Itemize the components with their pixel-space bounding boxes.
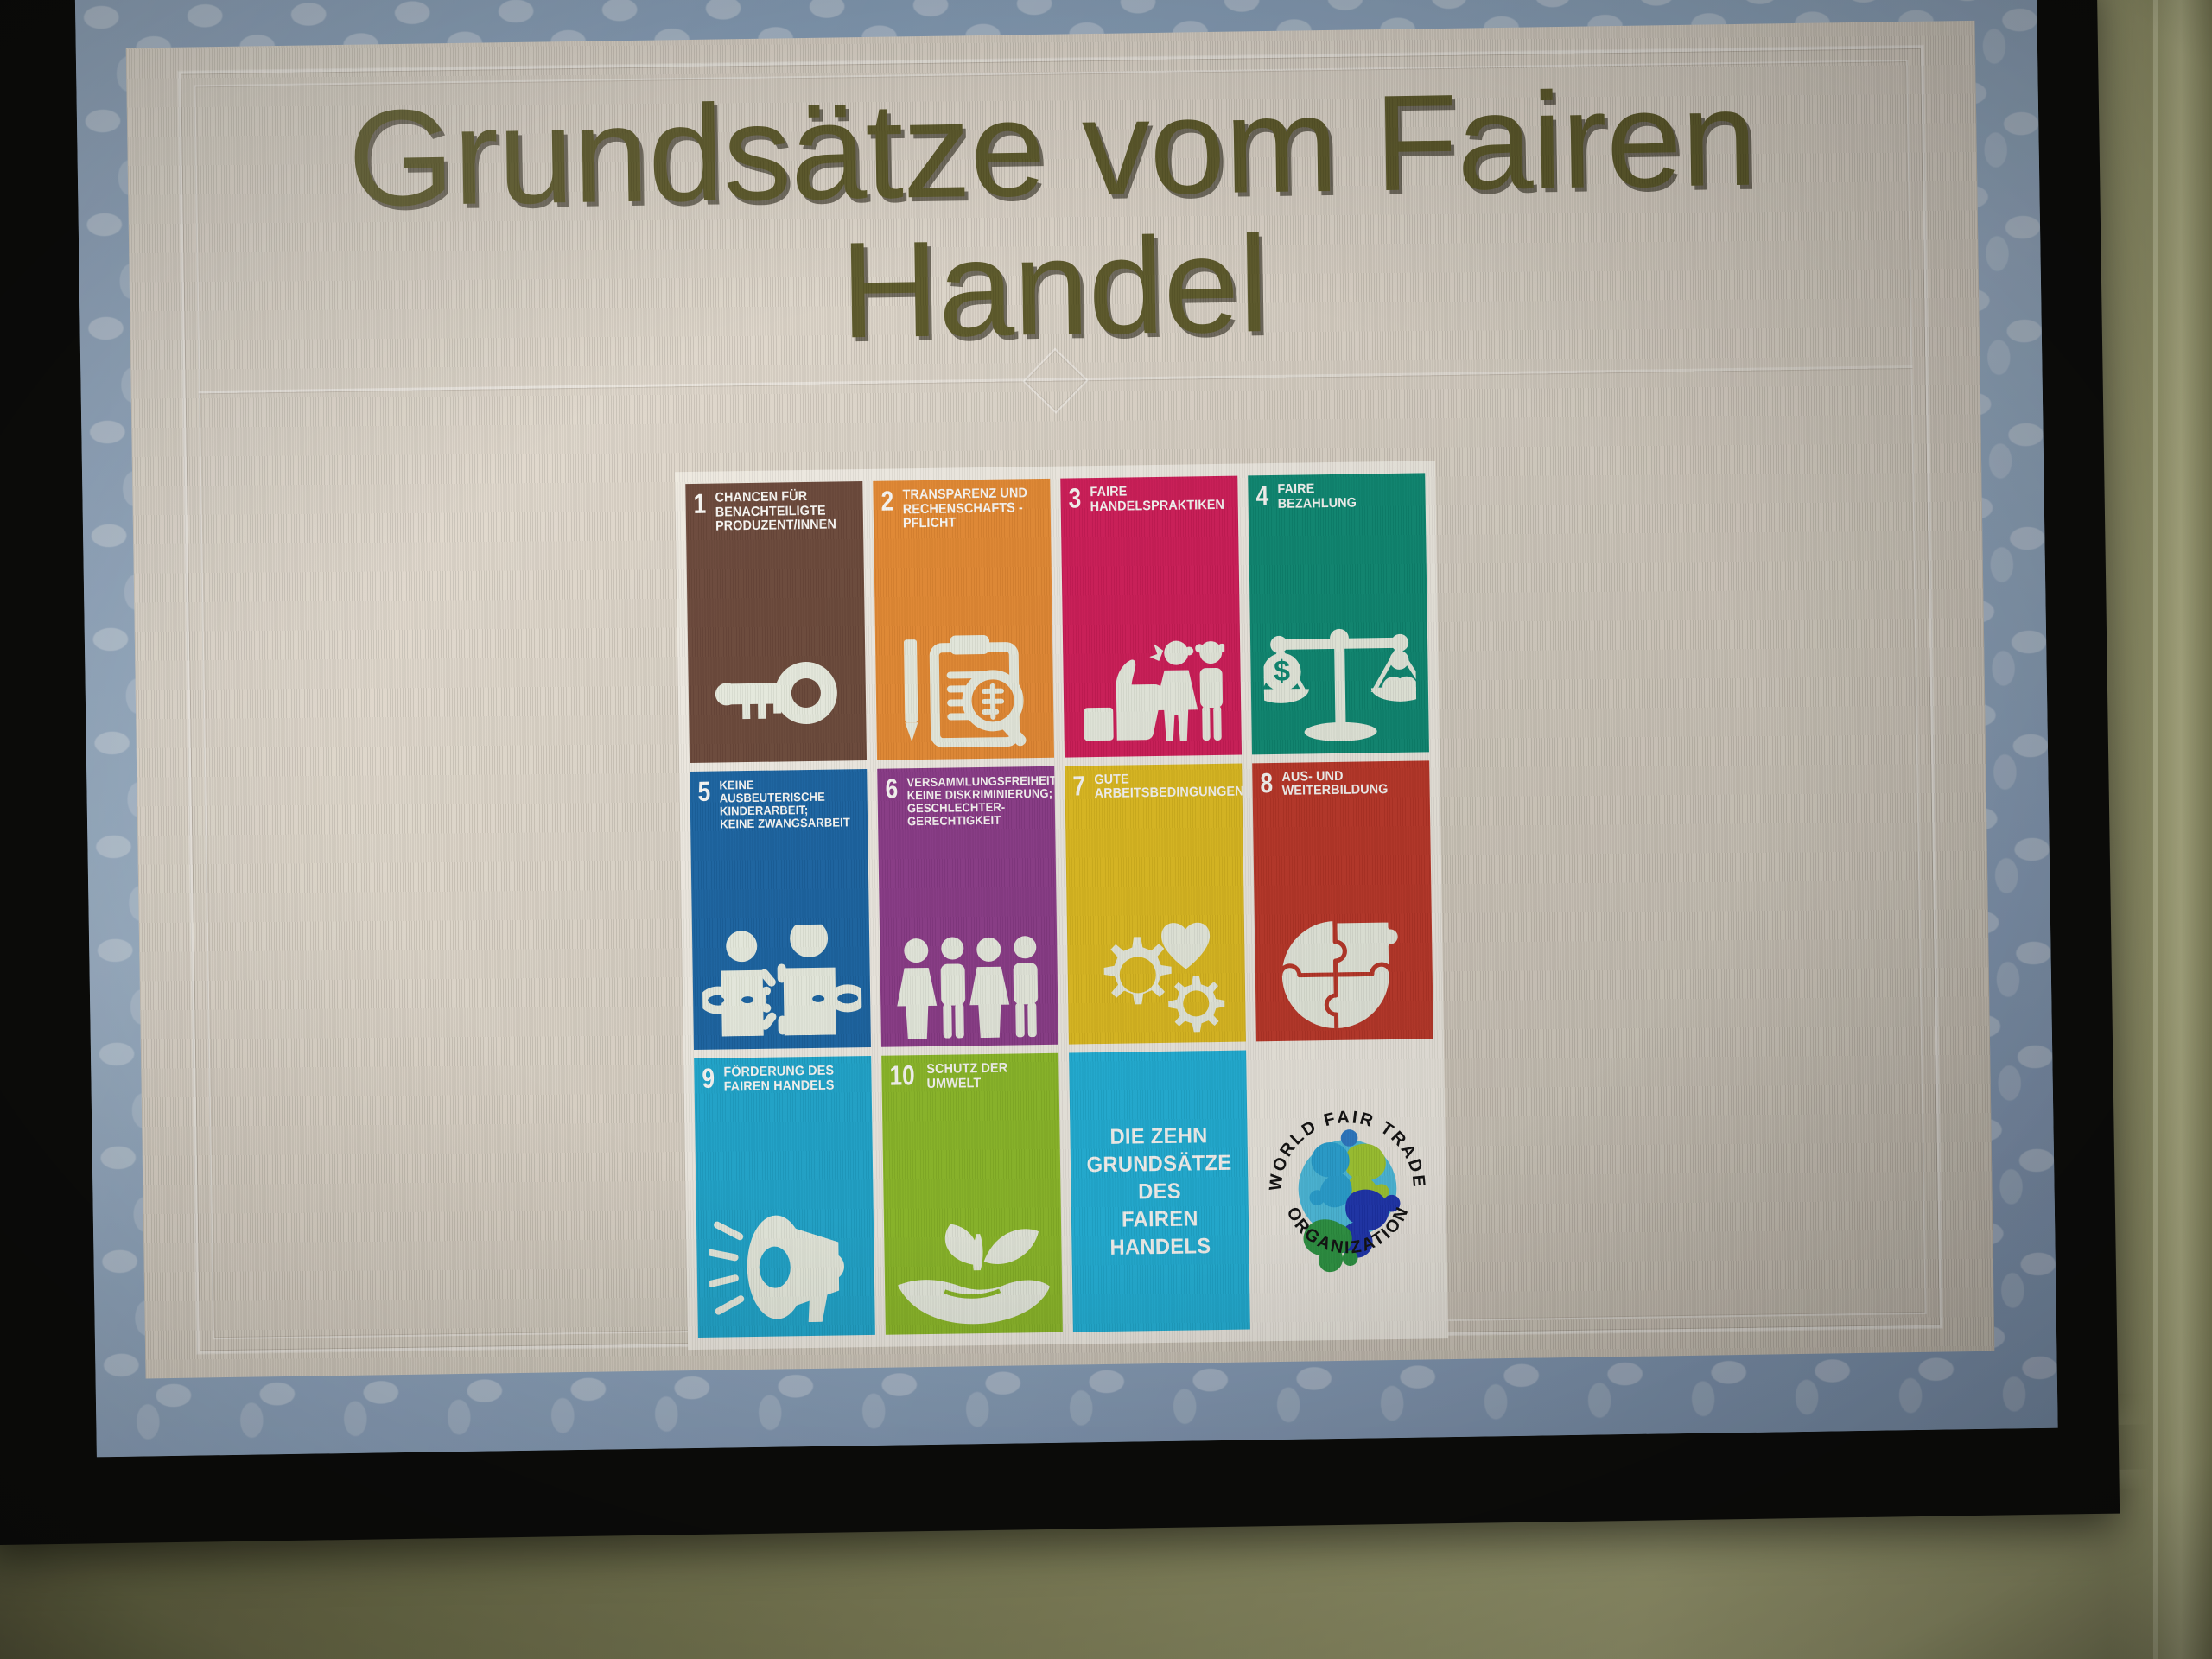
principle-tile-1[interactable]: 1 CHANCEN FÜR BENACHTEILIGTE PRODUZENT/I… bbox=[685, 481, 867, 763]
tile-number: 5 bbox=[697, 779, 710, 803]
tile-header: 1 CHANCEN FÜR BENACHTEILIGTE PRODUZENT/I… bbox=[685, 481, 863, 535]
principle-tile-9[interactable]: 9 FÖRDERUNG DES FAIREN HANDELS bbox=[694, 1056, 875, 1338]
wall-right-edge bbox=[2108, 0, 2212, 1659]
tile-label: AUS- UND WEITERBILDUNG bbox=[1281, 769, 1388, 799]
principles-panel: 1 CHANCEN FÜR BENACHTEILIGTE PRODUZENT/I… bbox=[675, 461, 1448, 1350]
principle-tile-3[interactable]: 3 FAIRE HANDELSPRAKTIKEN bbox=[1060, 476, 1242, 758]
thumbs-up-people-icon bbox=[1063, 621, 1242, 753]
tile-header: 5 KEINE AUSBEUTERISCHE KINDERARBEIT; KEI… bbox=[690, 769, 868, 831]
tile-label: VERSAMMLUNGSFREIHEIT; KEINE DISKRIMINIER… bbox=[906, 773, 1058, 827]
principle-tile-8[interactable]: 8 AUS- UND WEITERBILDUNG bbox=[1252, 760, 1433, 1042]
page-title: Grundsätze vom Fairen Handel bbox=[213, 67, 1893, 370]
four-people-icon bbox=[880, 931, 1058, 1044]
principles-grid: 1 CHANCEN FÜR BENACHTEILIGTE PRODUZENT/I… bbox=[685, 473, 1438, 1338]
tile-label: CHANCEN FÜR BENACHTEILIGTE PRODUZENT/INN… bbox=[715, 489, 836, 534]
summary-tile[interactable]: DIE ZEHN GRUNDSÄTZE DES FAIREN HANDELS bbox=[1069, 1051, 1250, 1332]
principle-tile-4[interactable]: 4 FAIRE BEZAHLUNG bbox=[1248, 473, 1429, 754]
tile-number: 7 bbox=[1072, 773, 1085, 798]
summary-text: DIE ZEHN GRUNDSÄTZE DES FAIREN HANDELS bbox=[1074, 1121, 1244, 1262]
tile-label: SCHUTZ DER UMWELT bbox=[926, 1062, 1007, 1092]
principle-tile-5[interactable]: 5 KEINE AUSBEUTERISCHE KINDERARBEIT; KEI… bbox=[690, 769, 871, 1051]
principle-tile-2[interactable]: 2 TRANSPARENZ UND RECHENSCHAFTS - PFLICH… bbox=[873, 479, 1054, 760]
wfto-logo[interactable]: WORLD FAIR TRADE ORGANIZATION bbox=[1256, 1048, 1438, 1330]
puzzle-circle-icon bbox=[1255, 906, 1433, 1039]
principle-tile-10[interactable]: 10 SCHUTZ DER UMWELT bbox=[881, 1053, 1063, 1335]
tile-header: 4 FAIRE BEZAHLUNG bbox=[1248, 473, 1426, 512]
projection-screen-bezel: Grundsätze vom Fairen Handel 1 CHANCEN F… bbox=[0, 0, 2120, 1545]
clipboard-magnifier-icon bbox=[875, 624, 1054, 756]
wall-right-seam bbox=[2153, 0, 2158, 1659]
tile-number: 1 bbox=[693, 492, 706, 516]
tile-header: 2 TRANSPARENZ UND RECHENSCHAFTS - PFLICH… bbox=[873, 479, 1051, 532]
tile-number: 3 bbox=[1068, 486, 1081, 510]
tile-number: 10 bbox=[889, 1064, 915, 1089]
slide-content-area: Grundsätze vom Fairen Handel 1 CHANCEN F… bbox=[126, 21, 1995, 1379]
tile-number: 2 bbox=[880, 489, 893, 513]
tile-label: KEINE AUSBEUTERISCHE KINDERARBEIT; KEINE… bbox=[719, 777, 851, 830]
tile-number: 4 bbox=[1255, 483, 1268, 507]
presentation-slide: Grundsätze vom Fairen Handel 1 CHANCEN F… bbox=[75, 0, 2058, 1457]
tile-number: 6 bbox=[885, 776, 898, 800]
tile-header: 6 VERSAMMLUNGSFREIHEIT; KEINE DISKRIMINI… bbox=[877, 766, 1055, 828]
key-icon bbox=[688, 627, 867, 760]
tile-header: 3 FAIRE HANDELSPRAKTIKEN bbox=[1060, 476, 1238, 515]
hand-plant-icon bbox=[884, 1199, 1063, 1332]
gears-heart-icon bbox=[1067, 909, 1246, 1041]
broken-chain-icon bbox=[692, 914, 871, 1046]
tile-label: GUTE ARBEITSBEDINGUNGEN bbox=[1094, 771, 1244, 802]
tile-number: 8 bbox=[1260, 771, 1273, 795]
tile-label: TRANSPARENZ UND RECHENSCHAFTS - PFLICHT bbox=[902, 486, 1027, 531]
tile-header: 7 GUTE ARBEITSBEDINGUNGEN bbox=[1065, 763, 1243, 802]
principle-tile-7[interactable]: 7 GUTE ARBEITSBEDINGUNGEN bbox=[1065, 763, 1246, 1045]
principle-tile-6[interactable]: 6 VERSAMMLUNGSFREIHEIT; KEINE DISKRIMINI… bbox=[877, 766, 1058, 1047]
tile-label: FAIRE BEZAHLUNG bbox=[1277, 482, 1357, 512]
tile-label: FAIRE HANDELSPRAKTIKEN bbox=[1090, 484, 1224, 514]
tile-header: 9 FÖRDERUNG DES FAIREN HANDELS bbox=[694, 1056, 872, 1095]
tile-header: 8 AUS- UND WEITERBILDUNG bbox=[1252, 760, 1430, 799]
tile-header: 10 SCHUTZ DER UMWELT bbox=[881, 1053, 1059, 1092]
tile-label: FÖRDERUNG DES FAIREN HANDELS bbox=[723, 1065, 834, 1095]
balance-scale-icon: $ bbox=[1250, 619, 1429, 751]
svg-text:$: $ bbox=[1273, 654, 1290, 687]
tile-number: 9 bbox=[702, 1066, 715, 1090]
megaphone-icon bbox=[696, 1202, 875, 1334]
